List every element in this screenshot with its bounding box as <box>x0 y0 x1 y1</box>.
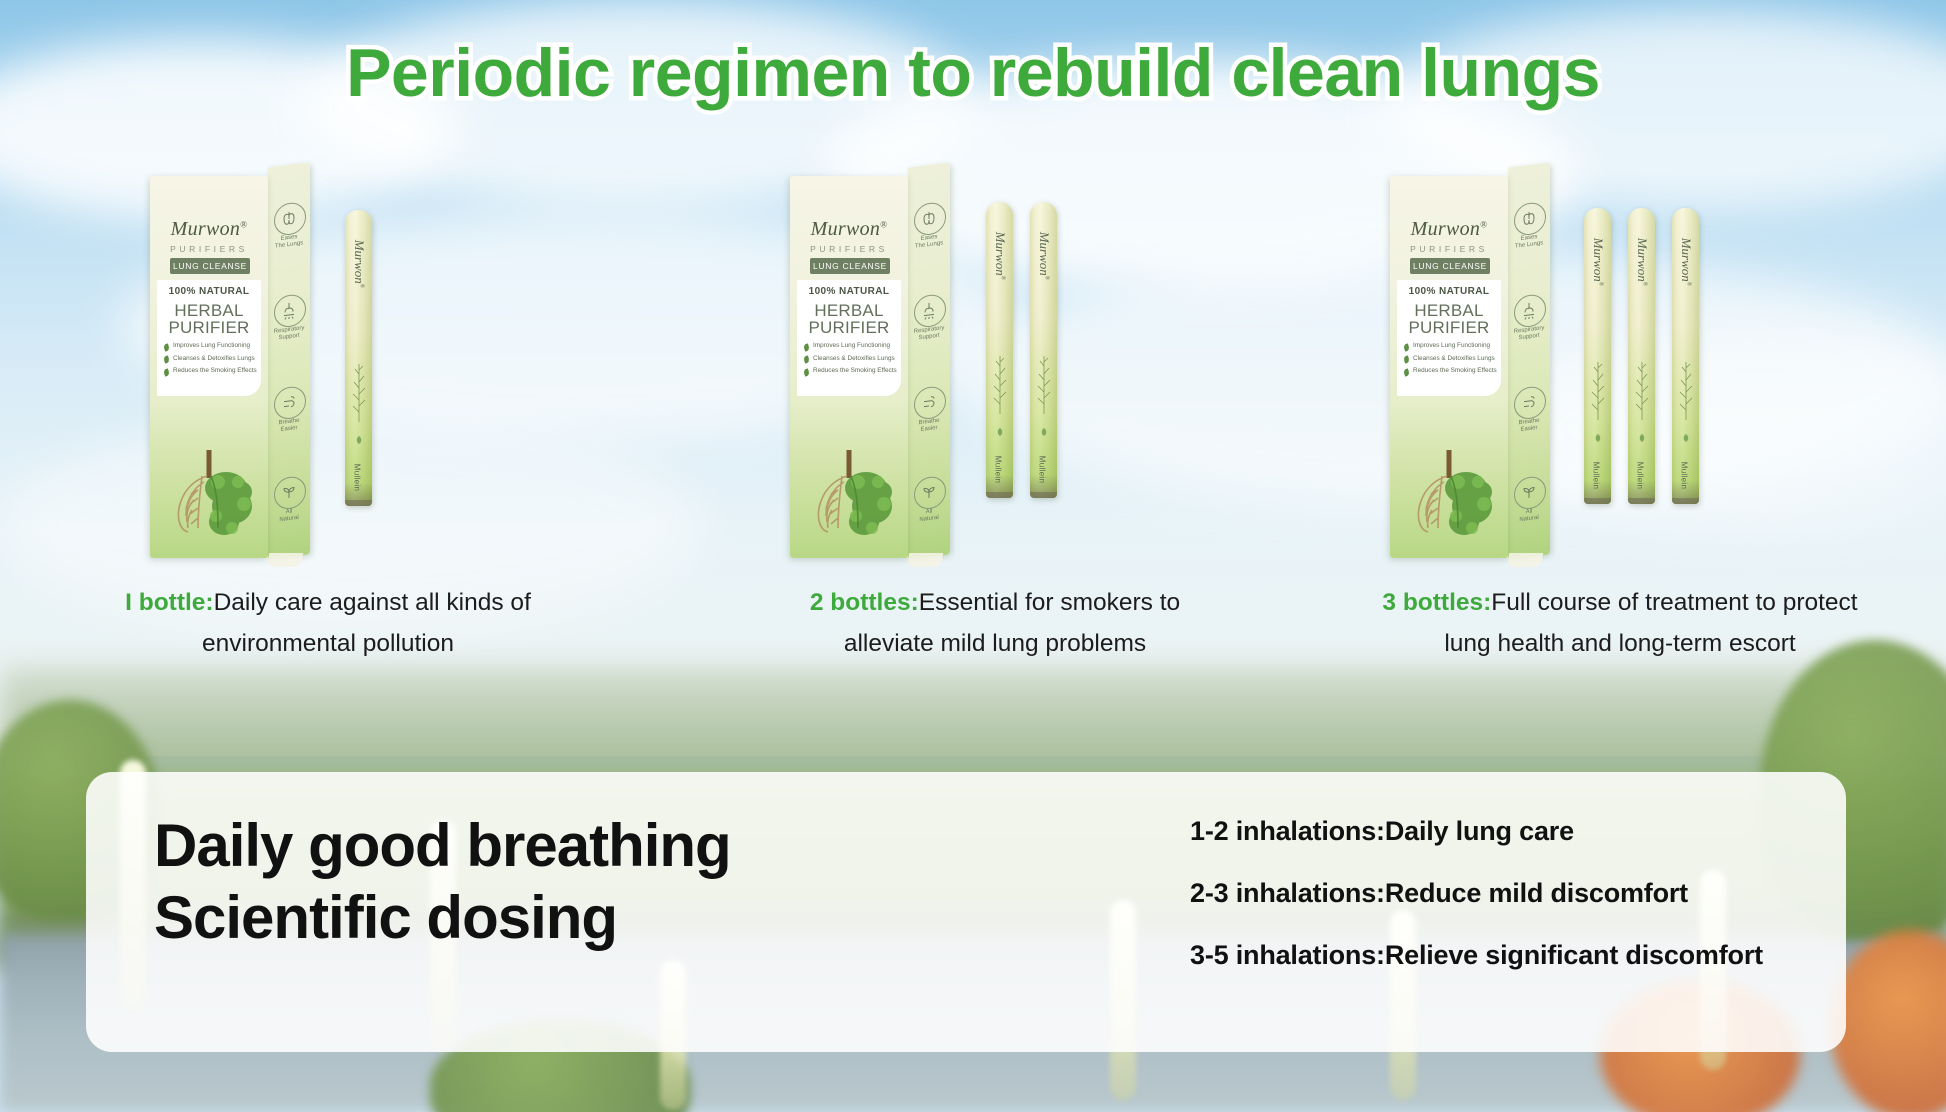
product-name: HERBALPURIFIER <box>157 302 261 336</box>
box-bottom-flap <box>1507 553 1543 567</box>
product-group-2-bottles[interactable]: EasesThe Lungs RespiratorySupport Breath… <box>790 176 1270 596</box>
lungs-icon <box>274 201 306 237</box>
inhaler-stick[interactable]: Murwon® Mullein <box>345 210 372 506</box>
product-group-3-bottles[interactable]: EasesThe Lungs RespiratorySupport Breath… <box>1390 176 1860 596</box>
side-icon-label: EasesThe Lungs <box>1508 232 1550 252</box>
stick-brand: Murwon® <box>992 216 1008 296</box>
stick-variant-name: Mullein <box>994 430 1003 499</box>
herb-sprig-icon <box>349 360 369 424</box>
caption-description: Daily care against all kinds of environm… <box>202 589 531 657</box>
brand-name: Murwon® <box>159 218 259 241</box>
lungs-icon <box>1514 201 1546 237</box>
caption-count-label: 3 bottles: <box>1382 589 1491 616</box>
side-icon-list: EasesThe Lungs RespiratorySupport Breath… <box>268 162 310 559</box>
stick-brand: Murwon® <box>351 224 367 304</box>
herb-sprig-icon <box>1632 358 1652 422</box>
side-icon-label: RespiratorySupport <box>268 324 310 344</box>
box-front-panel: Murwon® PURIFIERS LUNG CLEANSE 100% NATU… <box>150 176 268 558</box>
product-box[interactable]: EasesThe Lungs RespiratorySupport Breath… <box>1390 176 1508 558</box>
side-icon-list: EasesThe Lungs RespiratorySupport Breath… <box>1508 162 1550 559</box>
box-side-panel: EasesThe Lungs RespiratorySupport Breath… <box>268 162 310 559</box>
product-showcase: EasesThe Lungs RespiratorySupport Breath… <box>0 176 1946 596</box>
stick-variant-name: Mullein <box>353 438 362 507</box>
benefit-list: Improves Lung Functioning Cleanses & Det… <box>164 342 260 380</box>
herb-sprig-icon <box>1676 358 1696 422</box>
inhaler-stick[interactable]: Murwon® Mullein <box>1584 208 1611 504</box>
side-icon-label: BreatheEasier <box>1508 416 1550 436</box>
nose-breathing-icon <box>274 293 306 329</box>
side-icon-label: AllNatural <box>268 506 310 526</box>
natural-claim: 100% NATURAL <box>797 286 901 297</box>
sub-brand: PURIFIERS <box>150 244 268 254</box>
product-name: HERBALPURIFIER <box>797 302 901 336</box>
product-info-card: 100% NATURAL HERBALPURIFIER Improves Lun… <box>797 280 901 396</box>
dose-item: 1-2 inhalations:Daily lung care <box>1190 816 1830 847</box>
lung-cleanse-badge: LUNG CLEANSE <box>1410 258 1490 274</box>
box-front-panel: Murwon® PURIFIERS LUNG CLEANSE 100% NATU… <box>790 176 908 558</box>
side-icon-label: EasesThe Lungs <box>268 232 310 252</box>
lung-cleanse-badge: LUNG CLEANSE <box>810 258 890 274</box>
inhaler-stick[interactable]: Murwon® Mullein <box>1672 208 1699 504</box>
natural-claim: 100% NATURAL <box>1397 286 1501 297</box>
side-icon-label: BreatheEasier <box>268 416 310 436</box>
side-icon-label: BreatheEasier <box>908 416 950 436</box>
herb-sprig-icon <box>1034 352 1054 416</box>
sub-brand: PURIFIERS <box>790 244 908 254</box>
nose-breathing-icon <box>914 293 946 329</box>
page-title: Periodic regimen to rebuild clean lungs <box>0 34 1946 112</box>
stick-variant-name: Mullein <box>1592 436 1601 505</box>
inhaler-stick[interactable]: Murwon® Mullein <box>1628 208 1655 504</box>
stick-brand: Murwon® <box>1590 222 1606 302</box>
leaf-sprout-icon <box>274 475 306 511</box>
stick-brand: Murwon® <box>1634 222 1650 302</box>
panel-title-line-2: Scientific dosing <box>154 884 617 951</box>
side-icon-label: AllNatural <box>908 506 950 526</box>
stick-variant-name: Mullein <box>1636 436 1645 505</box>
stick-variant-name: Mullein <box>1680 436 1689 505</box>
dosing-panel: Daily good breathing Scientific dosing 1… <box>86 772 1846 1052</box>
stick-variant-name: Mullein <box>1038 430 1047 499</box>
product-group-1-bottle[interactable]: EasesThe Lungs RespiratorySupport Breath… <box>150 176 580 596</box>
breathe-icon <box>274 385 306 421</box>
leaf-sprout-icon <box>1514 475 1546 511</box>
benefit-item: Improves Lung Functioning <box>804 342 900 350</box>
benefit-item: Reduces the Smoking Effects <box>1404 367 1500 375</box>
breathe-icon <box>914 385 946 421</box>
dose-item: 2-3 inhalations:Reduce mild discomfort <box>1190 878 1830 909</box>
product-info-card: 100% NATURAL HERBALPURIFIER Improves Lun… <box>157 280 261 396</box>
box-front-panel: Murwon® PURIFIERS LUNG CLEANSE 100% NATU… <box>1390 176 1508 558</box>
herb-sprig-icon <box>1588 358 1608 422</box>
benefit-list: Improves Lung Functioning Cleanses & Det… <box>804 342 900 380</box>
caption-count-label: 2 bottles: <box>810 589 919 616</box>
brand-name: Murwon® <box>799 218 899 241</box>
caption-row: I bottle:Daily care against all kinds of… <box>0 582 1946 702</box>
box-bottom-flap <box>907 553 943 567</box>
benefit-list: Improves Lung Functioning Cleanses & Det… <box>1404 342 1500 380</box>
lung-tree-illustration <box>1394 432 1504 542</box>
lung-tree-illustration <box>154 432 264 542</box>
benefit-item: Reduces the Smoking Effects <box>164 367 260 375</box>
benefit-item: Cleanses & Detoxifies Lungs <box>1404 355 1500 363</box>
brand-name: Murwon® <box>1399 218 1499 241</box>
inhaler-stick[interactable]: Murwon® Mullein <box>986 202 1013 498</box>
caption-2-bottles: 2 bottles:Essential for smokers to allev… <box>770 582 1220 664</box>
lung-cleanse-badge: LUNG CLEANSE <box>170 258 250 274</box>
benefit-item: Cleanses & Detoxifies Lungs <box>164 355 260 363</box>
side-icon-label: RespiratorySupport <box>908 324 950 344</box>
caption-count-label: I bottle: <box>125 589 213 616</box>
box-side-panel: EasesThe Lungs RespiratorySupport Breath… <box>908 162 950 559</box>
breathe-icon <box>1514 385 1546 421</box>
benefit-item: Cleanses & Detoxifies Lungs <box>804 355 900 363</box>
product-box[interactable]: EasesThe Lungs RespiratorySupport Breath… <box>150 176 268 558</box>
caption-description: Full course of treatment to protect lung… <box>1444 589 1857 657</box>
natural-claim: 100% NATURAL <box>157 286 261 297</box>
product-name: HERBALPURIFIER <box>1397 302 1501 336</box>
benefit-item: Improves Lung Functioning <box>1404 342 1500 350</box>
box-bottom-flap <box>267 553 303 567</box>
dose-item: 3-5 inhalations:Relieve significant disc… <box>1190 940 1830 971</box>
box-side-panel: EasesThe Lungs RespiratorySupport Breath… <box>1508 162 1550 559</box>
panel-title-line-1: Daily good breathing <box>154 812 731 879</box>
leaf-sprout-icon <box>914 475 946 511</box>
side-icon-label: RespiratorySupport <box>1508 324 1550 344</box>
product-box[interactable]: EasesThe Lungs RespiratorySupport Breath… <box>790 176 908 558</box>
side-icon-label: EasesThe Lungs <box>908 232 950 252</box>
stick-brand: Murwon® <box>1678 222 1694 302</box>
caption-3-bottles: 3 bottles:Full course of treatment to pr… <box>1370 582 1870 664</box>
benefit-item: Improves Lung Functioning <box>164 342 260 350</box>
sub-brand: PURIFIERS <box>1390 244 1508 254</box>
herb-sprig-icon <box>990 352 1010 416</box>
benefit-item: Reduces the Smoking Effects <box>804 367 900 375</box>
side-icon-label: AllNatural <box>1508 506 1550 526</box>
lungs-icon <box>914 201 946 237</box>
stick-brand: Murwon® <box>1036 216 1052 296</box>
lung-tree-illustration <box>794 432 904 542</box>
product-info-card: 100% NATURAL HERBALPURIFIER Improves Lun… <box>1397 280 1501 396</box>
nose-breathing-icon <box>1514 293 1546 329</box>
inhaler-stick[interactable]: Murwon® Mullein <box>1030 202 1057 498</box>
dose-list: 1-2 inhalations:Daily lung care 2-3 inha… <box>1190 816 1830 1002</box>
side-icon-list: EasesThe Lungs RespiratorySupport Breath… <box>908 162 950 559</box>
panel-title: Daily good breathing Scientific dosing <box>154 810 1034 954</box>
caption-1-bottle: I bottle:Daily care against all kinds of… <box>88 582 568 664</box>
